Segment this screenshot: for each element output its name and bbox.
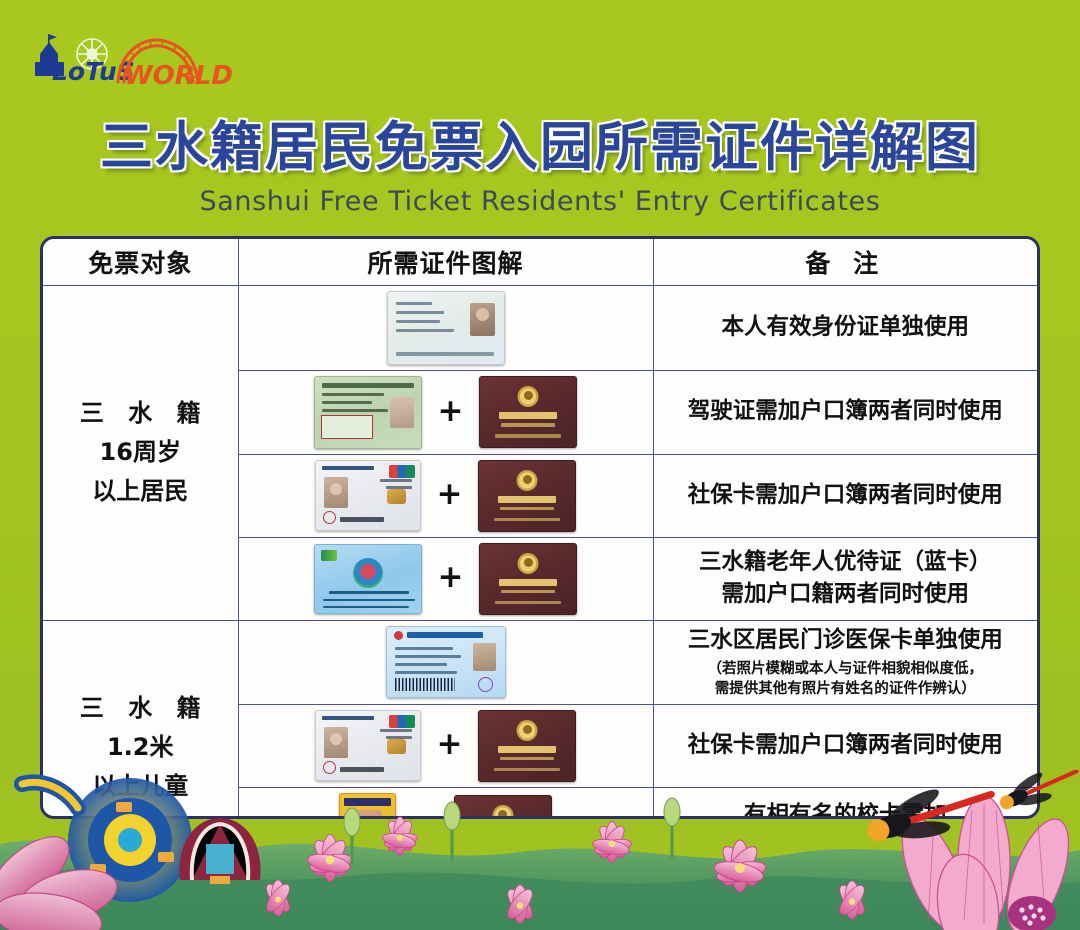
plus-symbol: + xyxy=(438,562,464,593)
remark-main: 三水区居民门诊医保卡单独使用 xyxy=(664,625,1028,656)
bottom-decoration xyxy=(0,770,1080,930)
senior-blue-card-image xyxy=(314,544,422,614)
category-line-2: 16周岁 xyxy=(43,433,238,472)
column-header-audience: 免票对象 xyxy=(43,239,238,285)
table-row: 三 水 籍 16周岁 以上居民 xyxy=(43,285,1037,370)
documents-cell-senior-hukou: + xyxy=(238,537,653,620)
lotus-world-logo: LoTuS WORLD xyxy=(28,32,233,94)
medical-insurance-card-image xyxy=(386,626,506,698)
svg-text:WORLD: WORLD xyxy=(124,61,233,91)
plus-symbol: + xyxy=(437,479,463,510)
remark-line-1: 三水籍老年人优待证（蓝卡） xyxy=(664,547,1028,578)
driver-license-image xyxy=(314,376,422,449)
table-header-row: 免票对象 所需证件图解 备 注 xyxy=(43,239,1037,285)
remark-cell-1: 本人有效身份证单独使用 xyxy=(653,285,1037,370)
national-id-card-image xyxy=(387,291,505,365)
remark-cell-2: 驾驶证需加户口簿两者同时使用 xyxy=(653,370,1037,454)
documents-cell-id xyxy=(238,285,653,370)
documents-cell-ssc-hukou-adult: + xyxy=(238,454,653,537)
page-title-cn: 三水籍居民免票入园所需证件详解图 xyxy=(0,118,1080,178)
documents-cell-medical xyxy=(238,620,653,704)
category-line-3: 以上居民 xyxy=(43,472,238,511)
household-register-image xyxy=(479,376,577,448)
remark-cell-5: 三水区居民门诊医保卡单独使用 （若照片模糊或本人与证件相貌相似度低， 需提供其他… xyxy=(653,620,1037,704)
page-title-en: Sanshui Free Ticket Residents' Entry Cer… xyxy=(0,186,1080,217)
category-line-1: 三 水 籍 xyxy=(43,689,238,728)
plus-symbol: + xyxy=(437,729,463,760)
category-cell-adults: 三 水 籍 16周岁 以上居民 xyxy=(43,285,238,620)
household-register-image xyxy=(478,460,576,532)
remark-sub-line-1: （若照片模糊或本人与证件相貌相似度低， xyxy=(664,659,1028,680)
column-header-remarks: 备 注 xyxy=(653,239,1037,285)
household-register-image xyxy=(479,543,577,615)
remark-cell-3: 社保卡需加户口簿两者同时使用 xyxy=(653,454,1037,537)
category-line-2: 1.2米 xyxy=(43,728,238,767)
remark-sub-line-2: 需提供其他有照片有姓名的证件作辨认） xyxy=(664,679,1028,700)
documents-cell-driver-hukou: + xyxy=(238,370,653,454)
certificates-table: 免票对象 所需证件图解 备 注 三 水 籍 16周岁 以上居民 xyxy=(43,239,1037,819)
column-header-documents: 所需证件图解 xyxy=(238,239,653,285)
social-security-card-image xyxy=(315,460,421,531)
category-line-1: 三 水 籍 xyxy=(43,394,238,433)
table-row: 三 水 籍 1.2米 以上儿童 三 xyxy=(43,620,1037,704)
remark-cell-4: 三水籍老年人优待证（蓝卡） 需加户口籍两者同时使用 xyxy=(653,537,1037,620)
remark-line-2: 需加户口籍两者同时使用 xyxy=(664,579,1028,610)
certificates-table-card: 免票对象 所需证件图解 备 注 三 水 籍 16周岁 以上居民 xyxy=(40,236,1040,819)
plus-symbol: + xyxy=(438,396,464,427)
